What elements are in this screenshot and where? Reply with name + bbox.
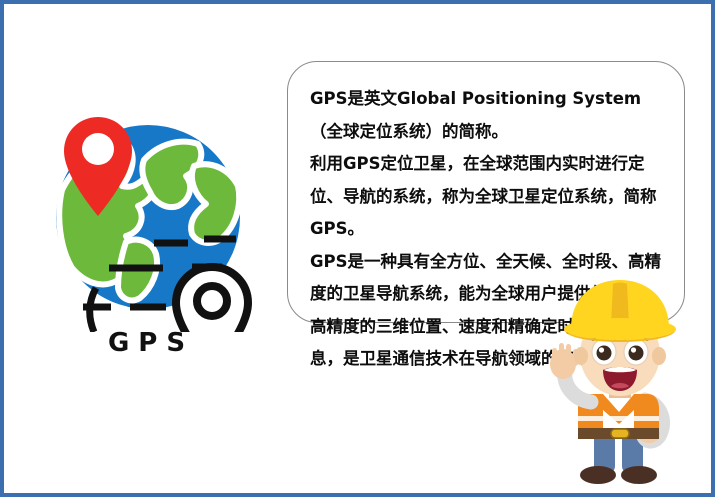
worker-belt-buckle: [611, 429, 629, 438]
slide-canvas: GPS GPS是英文Global Positioning System（全球定位…: [0, 0, 715, 497]
worker-hard-hat: [564, 280, 676, 342]
globe-icon: [26, 82, 276, 332]
gps-caption-label: GPS: [26, 328, 276, 358]
worker-illustration: [533, 276, 709, 497]
gps-illustration: GPS: [26, 82, 276, 392]
map-pin-outline-icon: [176, 267, 248, 332]
construction-worker-character: [533, 276, 709, 497]
worker-waving-hand: [550, 343, 578, 379]
